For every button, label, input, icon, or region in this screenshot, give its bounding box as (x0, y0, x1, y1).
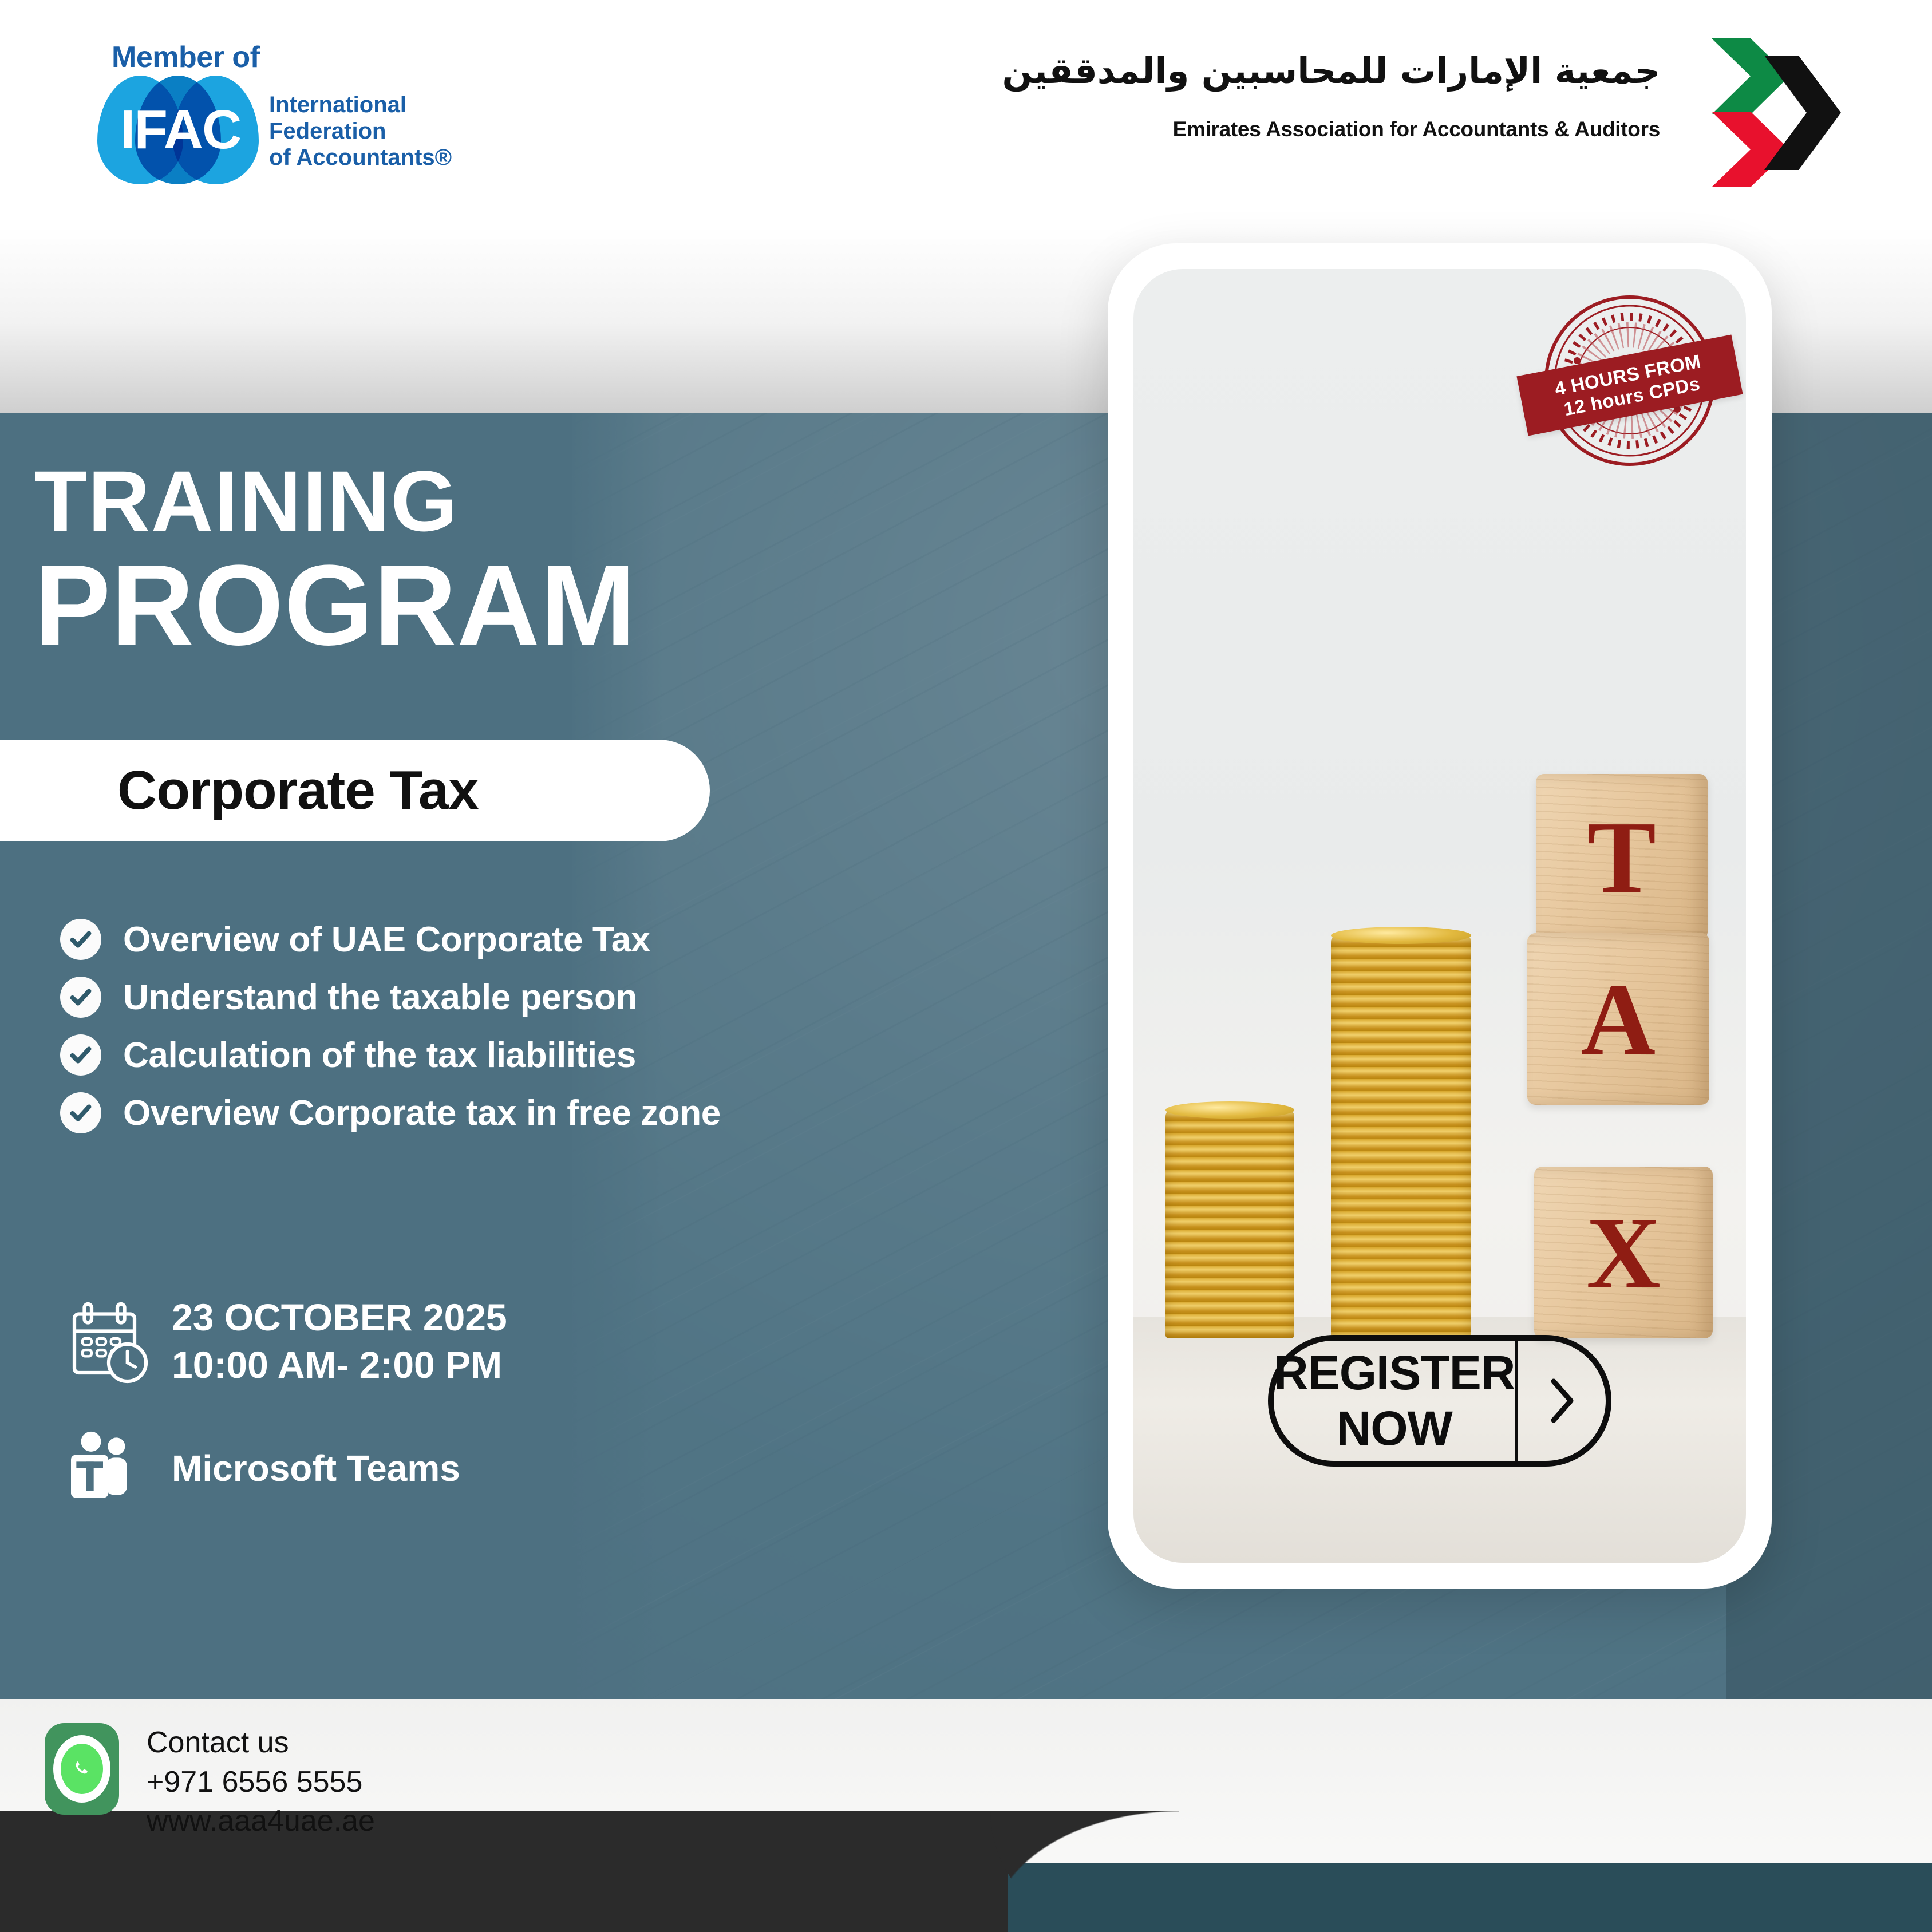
photo-card: T A X 4 HOURS FROM 12 hours (1108, 243, 1772, 1589)
coin-stack-tall (1331, 935, 1471, 1338)
register-now-button[interactable]: REGISTER NOW (1268, 1335, 1611, 1467)
topics-list: Overview of UAE Corporate Tax Understand… (60, 919, 890, 1150)
subject-pill: Corporate Tax (0, 740, 710, 841)
wooden-block-a: A (1527, 933, 1709, 1105)
association-chevron-icon (1677, 31, 1849, 192)
title-line-training: TRAINING (34, 458, 636, 544)
list-item: Understand the taxable person (60, 977, 890, 1018)
cpd-stamp-badge: 4 HOURS FROM 12 hours CPDs (1541, 292, 1718, 469)
ifac-fullname: International Federation of Accountants® (269, 92, 452, 171)
list-item: Overview of UAE Corporate Tax (60, 919, 890, 960)
check-circle-icon (60, 1034, 101, 1076)
list-item: Overview Corporate tax in free zone (60, 1092, 890, 1133)
event-time: 10:00 AM- 2:00 PM (172, 1341, 507, 1389)
poster-canvas: Member of IFAC International Federation … (0, 0, 1932, 1932)
coin-stack-small (1165, 1109, 1294, 1338)
contact-website[interactable]: www.aaa4uae.ae (147, 1801, 375, 1841)
microsoft-teams-icon (63, 1428, 172, 1508)
topic-label: Overview of UAE Corporate Tax (123, 919, 650, 960)
association-name-arabic: جمعية الإمارات للمحاسبين والمدققين (1002, 50, 1660, 92)
wooden-block-x: X (1534, 1167, 1713, 1338)
topic-label: Calculation of the tax liabilities (123, 1035, 636, 1076)
wooden-block-t: T (1536, 774, 1708, 940)
page-title: TRAINING PROGRAM (34, 458, 636, 663)
contact-heading: Contact us (147, 1723, 375, 1763)
photo-card-image: T A X 4 HOURS FROM 12 hours (1133, 269, 1746, 1563)
event-platform-text: Microsoft Teams (172, 1445, 460, 1491)
association-name-english: Emirates Association for Accountants & A… (1173, 117, 1660, 141)
check-circle-icon (60, 977, 101, 1018)
event-platform-row: Microsoft Teams (63, 1428, 507, 1508)
ifac-fullname-line2: Federation (269, 118, 452, 144)
ifac-fullname-line3: of Accountants® (269, 144, 452, 171)
whatsapp-icon[interactable] (45, 1723, 119, 1815)
list-item: Calculation of the tax liabilities (60, 1034, 890, 1076)
event-datetime-text: 23 OCTOBER 2025 10:00 AM- 2:00 PM (172, 1294, 507, 1388)
check-circle-icon (60, 1092, 101, 1133)
ifac-logo: Member of IFAC International Federation … (97, 40, 452, 183)
title-line-program: PROGRAM (34, 548, 636, 663)
event-datetime-row: 23 OCTOBER 2025 10:00 AM- 2:00 PM (63, 1294, 507, 1388)
topic-label: Understand the taxable person (123, 977, 637, 1018)
ifac-member-of-label: Member of (112, 40, 259, 74)
register-now-label: REGISTER NOW (1274, 1345, 1515, 1456)
contact-text: Contact us +971 6556 5555 www.aaa4uae.ae (147, 1723, 375, 1841)
contact-block: Contact us +971 6556 5555 www.aaa4uae.ae (45, 1723, 375, 1841)
association-logo: جمعية الإمارات للمحاسبين والمدققين Emira… (1139, 54, 1849, 186)
chevron-right-icon (1518, 1372, 1606, 1429)
ifac-fullname-line1: International (269, 92, 452, 118)
contact-phone[interactable]: +971 6556 5555 (147, 1763, 375, 1802)
subject-label: Corporate Tax (117, 759, 479, 822)
calendar-clock-icon (63, 1298, 172, 1384)
event-date: 23 OCTOBER 2025 (172, 1294, 507, 1341)
event-details: 23 OCTOBER 2025 10:00 AM- 2:00 PM Micros… (63, 1294, 507, 1548)
topic-label: Overview Corporate tax in free zone (123, 1093, 721, 1133)
ifac-acronym: IFAC (97, 76, 263, 184)
check-circle-icon (60, 919, 101, 960)
